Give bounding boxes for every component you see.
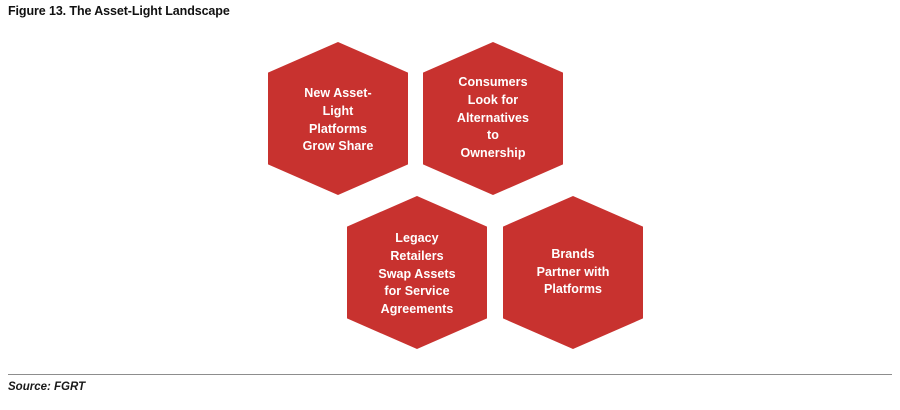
hexagon-label: Consumers Look for Alternatives to Owner…: [451, 74, 535, 163]
hexagon-brands-partner-with-platforms: Brands Partner with Platforms: [503, 196, 643, 349]
hexagon-label: New Asset- Light Platforms Grow Share: [297, 85, 380, 156]
source-divider: [8, 374, 892, 375]
hexagon-consumers-look-for-alternatives-to-ownership: Consumers Look for Alternatives to Owner…: [423, 42, 563, 195]
hexagon-diagram: New Asset- Light Platforms Grow Share Co…: [0, 30, 900, 360]
figure-title: Figure 13. The Asset-Light Landscape: [8, 4, 230, 18]
hexagon-new-asset-light-platforms-grow-share: New Asset- Light Platforms Grow Share: [268, 42, 408, 195]
hexagon-legacy-retailers-swap-assets-for-service-agreements: Legacy Retailers Swap Assets for Service…: [347, 196, 487, 349]
hexagon-label: Brands Partner with Platforms: [531, 246, 616, 299]
hexagon-label: Legacy Retailers Swap Assets for Service…: [372, 230, 461, 319]
source-note: Source: FGRT: [8, 381, 85, 393]
